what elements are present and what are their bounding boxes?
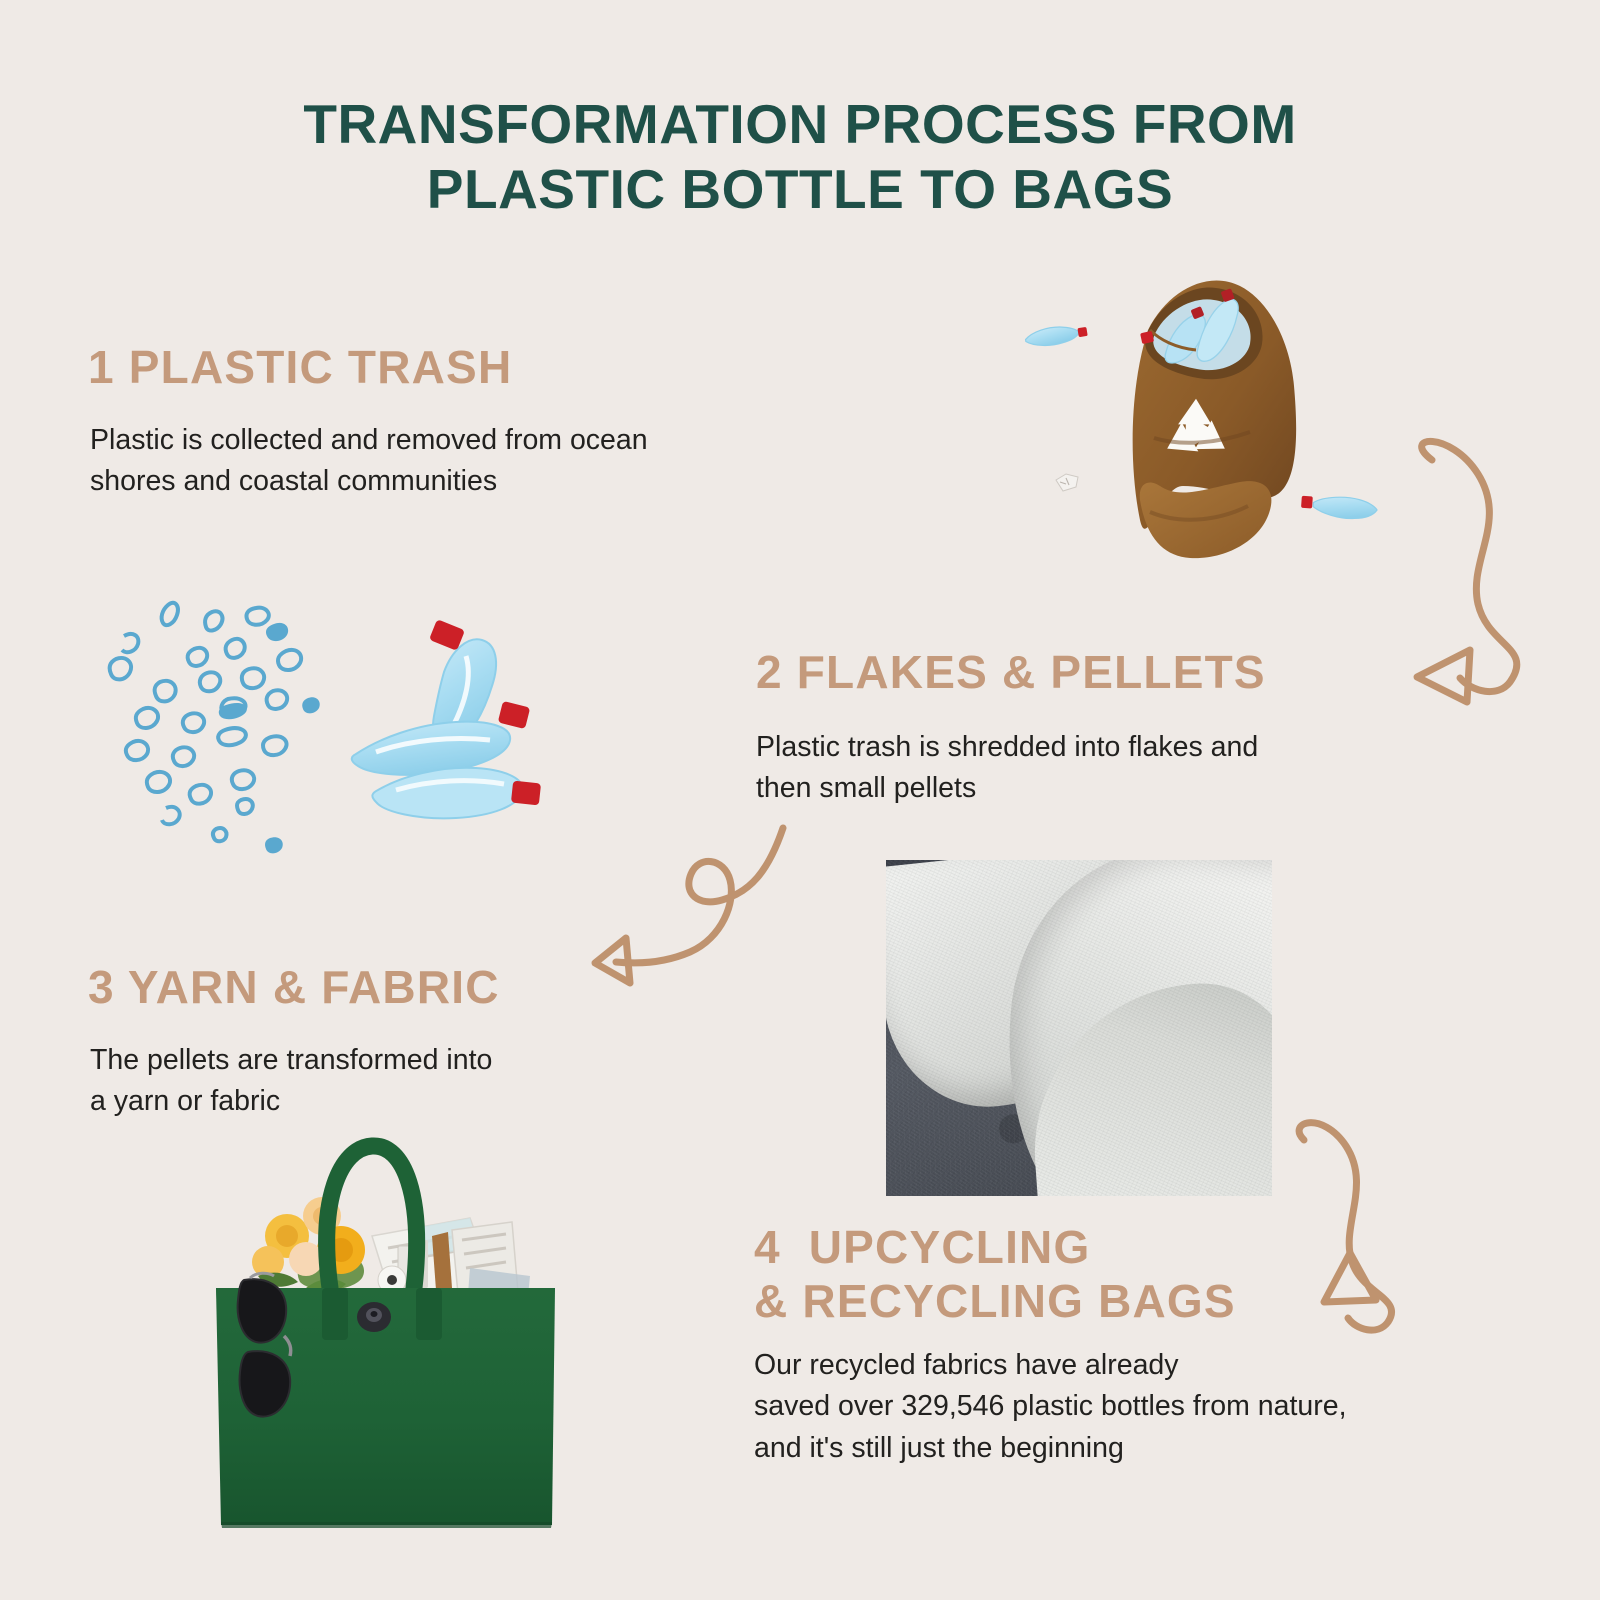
bottle-in-bag-2 [1197, 288, 1238, 361]
step-2-body: Plastic trash is shredded into flakes an… [756, 727, 1396, 810]
step-3-heading: 3 YARN & FABRIC [88, 960, 500, 1014]
crushed-bottle-2 [352, 701, 531, 775]
step-1-body: Plastic is collected and removed from oc… [90, 420, 790, 503]
tote-contents-flowers [252, 1197, 365, 1294]
stray-bottle-left [1024, 322, 1088, 349]
sunglasses [238, 1273, 291, 1416]
paper-scrap [1056, 474, 1078, 491]
crushed-bottle-3 [372, 768, 541, 819]
page-title-line-2: PLASTIC BOTTLE TO BAGS [0, 157, 1600, 222]
arrow-step3-to-step4 [1299, 1123, 1391, 1330]
tote-snap-button [357, 1302, 391, 1332]
tote-body [216, 1288, 555, 1525]
step-1-heading: 1 PLASTIC TRASH [88, 340, 512, 394]
infographic-canvas: TRANSFORMATION PROCESS FROM PLASTIC BOTT… [0, 0, 1600, 1600]
trash-bag-opening [1145, 287, 1262, 379]
plastic-flakes-group [110, 603, 302, 842]
tote-contents-magazines [372, 1218, 530, 1300]
page-title-line-1: TRANSFORMATION PROCESS FROM [303, 93, 1296, 155]
arrow-step1-to-step2 [1417, 441, 1517, 702]
bottle-in-bag-1 [1165, 306, 1205, 363]
trash-bag-lower [1140, 481, 1272, 558]
felt-fabric-photo [886, 860, 1272, 1196]
crushed-bottles-group [352, 619, 541, 818]
step-3-body: The pellets are transformed into a yarn … [90, 1040, 650, 1123]
page-title: TRANSFORMATION PROCESS FROM PLASTIC BOTT… [0, 92, 1600, 222]
arrow-step2-to-step3 [595, 828, 783, 983]
tote-handle-tab-left [322, 1288, 348, 1340]
stray-bottle-right [1301, 494, 1378, 520]
step-4-body: Our recycled fabrics have already saved … [754, 1345, 1494, 1469]
plastic-flakes-solid [219, 623, 320, 854]
step-2-heading: 2 FLAKES & PELLETS [756, 645, 1266, 699]
tote-handle-left [327, 1146, 417, 1288]
green-tote-bag [216, 1146, 555, 1528]
fabric-texture-noise-2 [886, 860, 1272, 1196]
trash-bag-body [1133, 280, 1297, 528]
recycle-icon [1159, 399, 1233, 464]
bottles-inside-bag [1153, 299, 1250, 370]
trash-bag-illustration [1024, 280, 1377, 558]
step-4-heading: 4 UPCYCLING & RECYCLING BAGS [754, 1220, 1236, 1329]
tote-handle-tab-right [416, 1288, 442, 1340]
crushed-bottle-1 [429, 619, 496, 745]
